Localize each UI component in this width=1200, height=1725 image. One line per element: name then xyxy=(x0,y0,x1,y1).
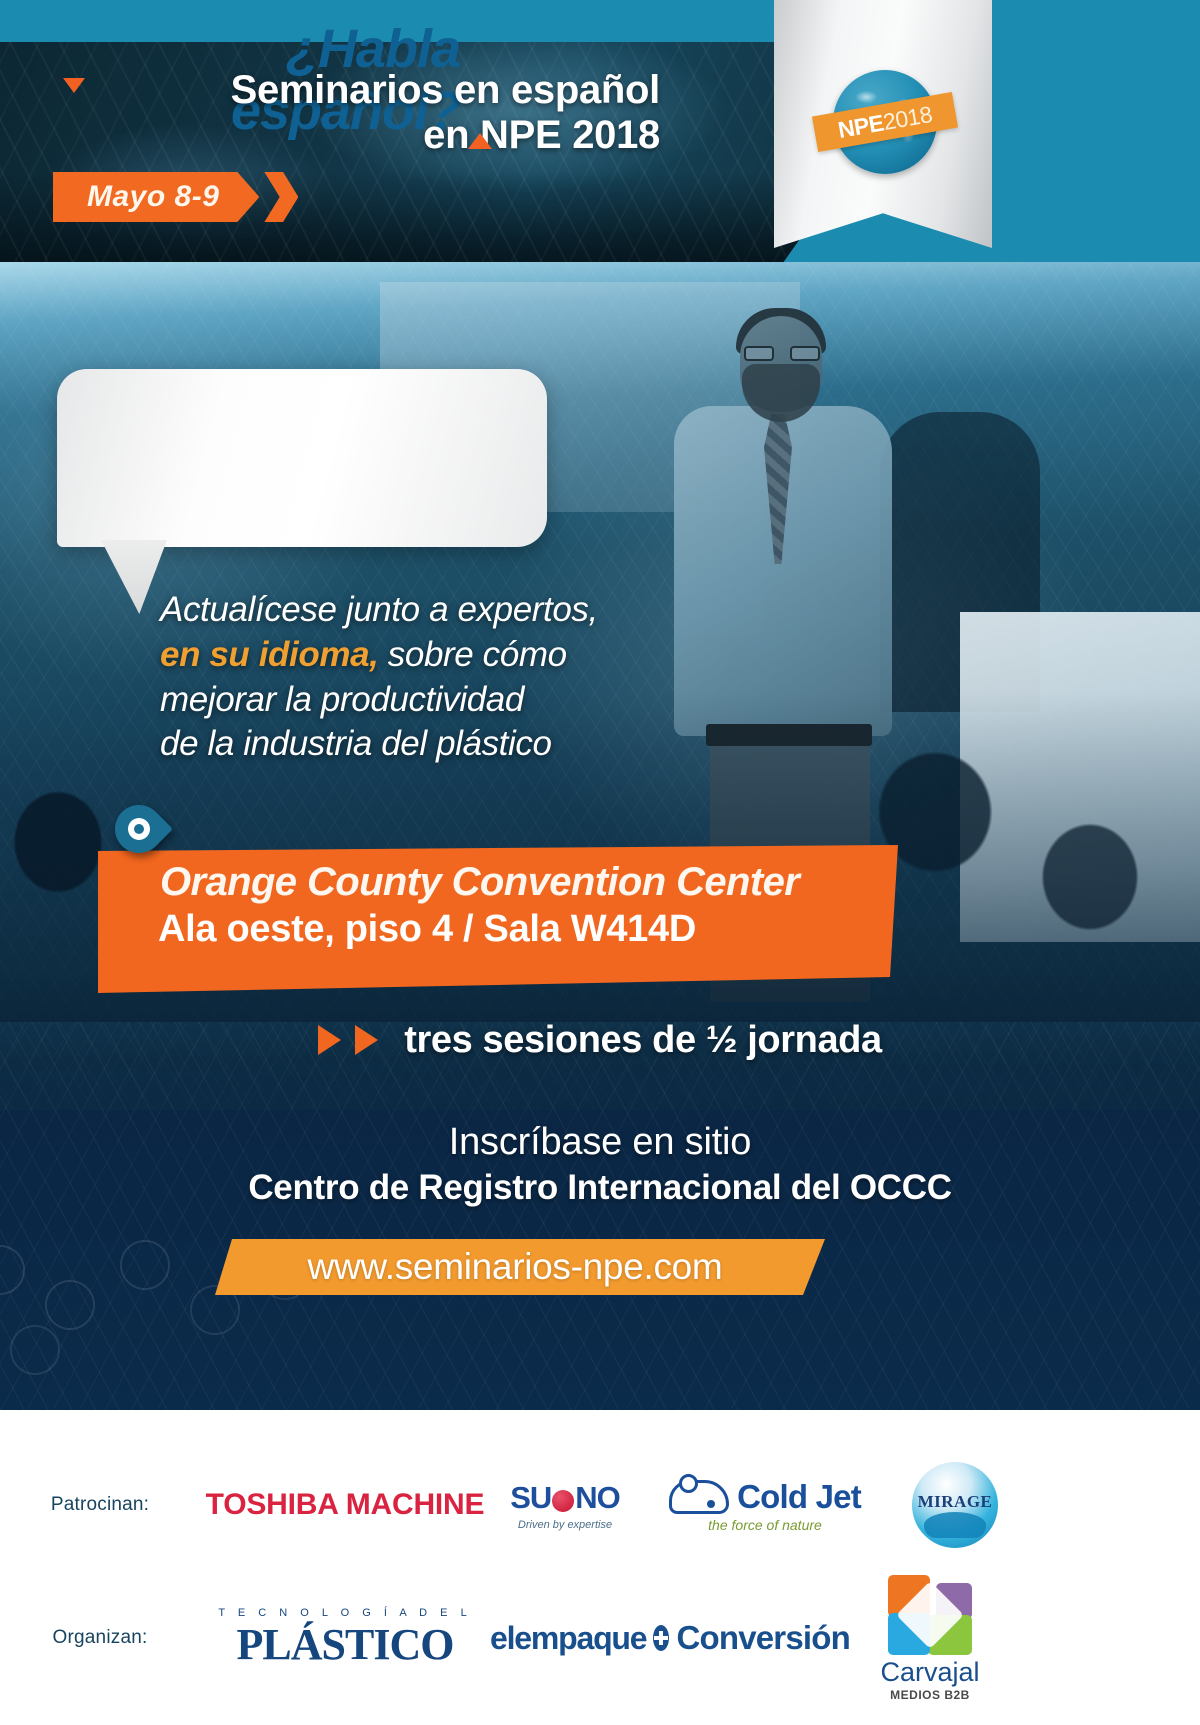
chevron-right-icon xyxy=(264,172,298,222)
date-badge: Mayo 8-9 xyxy=(53,172,298,222)
poster-root: Seminarios en español en NPE 2018 Mayo 8… xyxy=(0,0,1200,1725)
lead-paragraph: Actualícese junto a expertos, en su idio… xyxy=(160,588,780,767)
logo-tecnologia-del-plastico: T E C N O L O G Í A D E L PLÁSTICO xyxy=(200,1607,490,1670)
organizers-label: Organizan: xyxy=(0,1627,200,1649)
mirage-wave-icon xyxy=(924,1512,986,1538)
cold-jet-name: Cold Jet xyxy=(737,1478,861,1516)
logo-el-empaque-conversion: elempaque Conversión xyxy=(490,1619,850,1657)
map-pin-icon xyxy=(115,805,163,871)
npe-logo-text: NPE xyxy=(836,109,886,143)
lead-line-2-rest: sobre cómo xyxy=(378,635,566,674)
registration-subheading: Centro de Registro Internacional del OCC… xyxy=(0,1168,1200,1208)
mirage-globe-icon: MIRAGE xyxy=(912,1462,998,1548)
logo-ka-suono: SUNO Driven by expertise xyxy=(490,1480,640,1531)
cold-jet-tagline: the force of nature xyxy=(640,1517,890,1533)
logo-cold-jet: Cold Jet the force of nature xyxy=(640,1478,890,1533)
speech-bubble xyxy=(57,369,547,547)
page-title: Seminarios en español en NPE 2018 xyxy=(0,68,660,158)
conversion-name: Conversión xyxy=(676,1619,850,1657)
triangle-marker-left-icon xyxy=(63,78,85,93)
ka-suono-no: NO xyxy=(575,1480,620,1515)
lead-highlight: en su idioma, xyxy=(160,635,378,674)
play-triangle-icon-1 xyxy=(318,1025,341,1055)
ka-suono-wordmark: SUNO xyxy=(490,1480,640,1516)
venue-detail: Ala oeste, piso 4 / Sala W414D xyxy=(158,908,696,951)
logo-toshiba-machine: TOSHIBA MACHINE xyxy=(200,1488,490,1522)
ka-suono-tagline: Driven by expertise xyxy=(490,1519,640,1531)
carvajal-name: Carvajal xyxy=(850,1657,1010,1688)
logo-mirage: MIRAGE xyxy=(890,1462,1020,1548)
plastico-eyebrow: T E C N O L O G Í A D E L xyxy=(200,1607,490,1619)
plastico-name: PLÁSTICO xyxy=(200,1619,490,1670)
date-badge-label: Mayo 8-9 xyxy=(53,172,259,222)
poster-footer: Patrocinan: TOSHIBA MACHINE SUNO Driven … xyxy=(0,1410,1200,1725)
polar-bear-icon xyxy=(669,1480,729,1514)
sponsor-logos: TOSHIBA MACHINE SUNO Driven by expertise… xyxy=(200,1462,1200,1548)
npe-logo-year: 2018 xyxy=(881,100,934,134)
carvajal-mark-icon xyxy=(888,1575,972,1655)
title-line-2: en NPE 2018 xyxy=(0,113,660,158)
sessions-label: tres sesiones de ½ jornada xyxy=(404,1019,881,1062)
play-triangle-icon-2 xyxy=(355,1025,378,1055)
organizers-row: Organizan: T E C N O L O G Í A D E L PLÁ… xyxy=(0,1578,1200,1698)
triangle-marker-right-icon xyxy=(468,133,492,149)
carvajal-sub: MEDIOS B2B xyxy=(850,1688,1010,1702)
mirage-name: MIRAGE xyxy=(912,1492,998,1512)
title-line-1: Seminarios en español xyxy=(0,68,660,113)
lead-line-1: Actualícese junto a expertos, xyxy=(160,588,780,633)
lead-line-3: mejorar la productividad xyxy=(160,678,780,723)
lead-line-4: de la industria del plástico xyxy=(160,722,780,767)
lead-line-2: en su idioma, sobre cómo xyxy=(160,633,780,678)
registration-heading: Inscríbase en sitio xyxy=(0,1121,1200,1164)
logo-carvajal: Carvajal MEDIOS B2B xyxy=(850,1575,1010,1702)
organizer-logos: T E C N O L O G Í A D E L PLÁSTICO elemp… xyxy=(200,1575,1200,1702)
ka-suono-su: SU xyxy=(510,1480,551,1515)
cold-jet-wordmark: Cold Jet xyxy=(640,1478,890,1516)
plus-icon xyxy=(653,1625,669,1651)
venue-name: Orange County Convention Center xyxy=(160,860,799,905)
el-empaque-name: elempaque xyxy=(490,1620,646,1657)
speaker-glasses-icon xyxy=(744,346,820,361)
sessions-row: tres sesiones de ½ jornada xyxy=(0,1012,1200,1068)
website-url[interactable]: www.seminarios-npe.com xyxy=(215,1246,815,1288)
apple-icon xyxy=(552,1490,574,1512)
sponsors-label: Patrocinan: xyxy=(0,1494,200,1516)
sponsors-row: Patrocinan: TOSHIBA MACHINE SUNO Driven … xyxy=(0,1450,1200,1560)
